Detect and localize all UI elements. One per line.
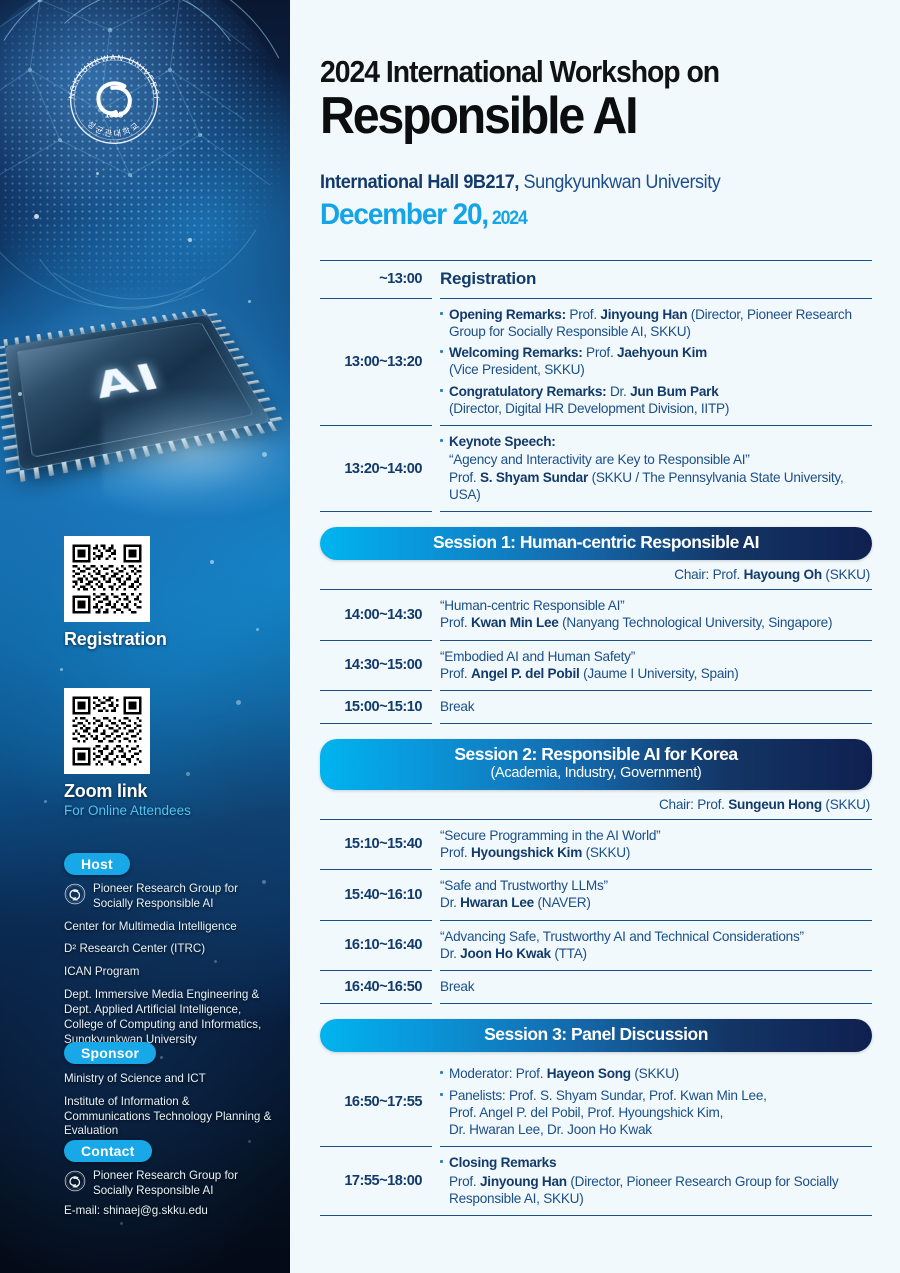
schedule-row-keynote: 13:20~14:00 Keynote Speech: “Agency and …	[320, 426, 872, 511]
item-name: Jun Bum Park	[630, 384, 718, 399]
skku-seal-small-icon: 1398	[64, 883, 86, 905]
svg-text:1398: 1398	[72, 899, 78, 902]
row-content: “Embodied AI and Human Safety” Prof. Ang…	[432, 641, 872, 691]
speaker-name: Hwaran Lee	[460, 895, 534, 910]
list-item: Keynote Speech:	[440, 433, 872, 450]
row-time: 15:10~15:40	[320, 820, 432, 870]
event-date-main: December 20,	[320, 198, 488, 231]
row-content: Registration	[432, 261, 872, 298]
speaker-prefix: Prof.	[440, 666, 471, 681]
poster-main: 2024 International Workshop on Responsib…	[290, 0, 900, 1273]
divider	[320, 723, 872, 724]
event-date-year: 2024	[488, 208, 527, 229]
speaker-name: Angel P. del Pobil	[471, 666, 580, 681]
row-time: 13:20~14:00	[320, 426, 432, 511]
speaker-affiliation: (TTA)	[551, 946, 587, 961]
speaker-affiliation: (Nanyang Technological University, Singa…	[559, 615, 833, 630]
row-time: 17:55~18:00	[320, 1147, 432, 1215]
speaker-prefix: Dr.	[440, 895, 460, 910]
closing-speaker-prefix: Prof.	[449, 1174, 480, 1189]
speaker-affiliation: (SKKU)	[582, 845, 630, 860]
item-name: Jaehyoun Kim	[617, 345, 707, 360]
svg-text:1398: 1398	[105, 110, 124, 119]
event-date: December 20, 2024	[320, 198, 833, 232]
contact-pill-label: Contact	[64, 1140, 152, 1162]
chair-affiliation: (SKKU)	[822, 567, 870, 582]
divider	[320, 511, 872, 512]
sponsor-section: Sponsor Ministry of Science and ICT Inst…	[46, 1042, 290, 1139]
row-time: 16:10~16:40	[320, 921, 432, 971]
talk-title: “Secure Programming in the AI World”	[440, 828, 660, 843]
closing-speaker: Jinyoung Han	[480, 1174, 567, 1189]
list-item: Welcoming Remarks: Prof. Jaehyoun Kim (V…	[440, 344, 872, 379]
moderator-affiliation: (SKKU)	[631, 1066, 679, 1081]
venue-line: International Hall 9B217, Sungkyunkwan U…	[320, 172, 844, 194]
speaker-name: Kwan Min Lee	[471, 615, 559, 630]
skku-university-seal-logo: SUNGKYUNKWAN UNIVERSITY 성균관대학교 1398	[62, 48, 166, 152]
sponsor-line-2: Institute of Information & Communication…	[64, 1095, 272, 1139]
talk-title: “Safe and Trustworthy LLMs”	[440, 878, 608, 893]
item-lead: Welcoming Remarks:	[449, 345, 583, 360]
row-time: 16:40~16:50	[320, 971, 432, 1003]
svg-text:1398: 1398	[72, 1186, 78, 1189]
list-item: Congratulatory Remarks: Dr. Jun Bum Park…	[440, 383, 872, 418]
workshop-title-line2: Responsible AI	[320, 90, 833, 143]
item-mid: Dr.	[606, 384, 630, 399]
row-time: 14:00~14:30	[320, 590, 432, 640]
keynote-speaker-prefix: Prof.	[449, 470, 480, 485]
session-3-title: Session 3: Panel Discussion	[330, 1025, 862, 1045]
chair-affiliation: (SKKU)	[822, 797, 870, 812]
venue-university: Sungkyunkwan University	[519, 172, 720, 193]
divider	[320, 1215, 872, 1216]
list-item: Moderator: Prof. Hayeon Song (SKKU)	[440, 1065, 872, 1082]
row-content: “Advancing Safe, Trustworthy AI and Tech…	[432, 921, 872, 971]
talk-title: “Embodied AI and Human Safety”	[440, 649, 635, 664]
poster-sidebar: AI	[0, 0, 290, 1273]
item-tail: (Director, Digital HR Development Divisi…	[449, 401, 729, 416]
session-2-subtitle: (Academia, Industry, Government)	[330, 765, 862, 782]
host-org-name: Pioneer Research Group for Socially Resp…	[93, 882, 238, 912]
zoom-link-qr-block[interactable]: Zoom link For Online Attendees	[64, 688, 191, 818]
registration-qr-code[interactable]	[64, 536, 150, 622]
row-time: 15:00~15:10	[320, 691, 432, 723]
row-content: Keynote Speech: “Agency and Interactivit…	[432, 426, 872, 511]
session-1-chair: Chair: Prof. Hayoung Oh (SKKU)	[320, 567, 870, 582]
contact-section: Contact 1398 Pioneer Research Group for …	[46, 1140, 290, 1218]
item-name: Jinyoung Han	[600, 307, 687, 322]
speaker-prefix: Prof.	[440, 845, 471, 860]
speaker-name: Hyoungshick Kim	[471, 845, 582, 860]
keynote-lead: Keynote Speech:	[449, 434, 556, 449]
keynote-speaker: S. Shyam Sundar	[480, 470, 588, 485]
session-1-banner: Session 1: Human-centric Responsible AI	[320, 527, 872, 560]
contact-org: 1398 Pioneer Research Group for Socially…	[64, 1169, 272, 1199]
sponsor-line-1: Ministry of Science and ICT	[64, 1072, 272, 1087]
poster-root: AI	[0, 0, 900, 1273]
row-time: 16:50~17:55	[320, 1058, 432, 1146]
registration-qr-block[interactable]: Registration	[64, 536, 167, 650]
chair-prefix: Chair: Prof.	[659, 797, 728, 812]
contact-email[interactable]: E-mail: shinaej@g.skku.edu	[64, 1204, 272, 1219]
row-content: Moderator: Prof. Hayeon Song (SKKU) Pane…	[432, 1058, 872, 1146]
registration-qr-label: Registration	[64, 629, 167, 650]
speaker-prefix: Dr.	[440, 946, 460, 961]
row-content: Opening Remarks: Prof. Jinyoung Han (Dir…	[432, 299, 872, 426]
venue-hall: International Hall 9B217,	[320, 172, 519, 193]
item-tail: (Vice President, SKKU)	[449, 362, 585, 377]
workshop-title-line1: 2024 International Workshop on	[320, 56, 833, 88]
schedule-table: ~13:00 Registration 13:00~13:20 Opening …	[320, 260, 872, 1216]
schedule-row-opening: 13:00~13:20 Opening Remarks: Prof. Jinyo…	[320, 299, 872, 426]
schedule-row-s1-talk1: 14:00~14:30 “Human-centric Responsible A…	[320, 590, 872, 640]
chair-name: Sungeun Hong	[728, 797, 822, 812]
schedule-row-s2-talk3: 16:10~16:40 “Advancing Safe, Trustworthy…	[320, 921, 872, 971]
skku-seal-small-icon-contact: 1398	[64, 1170, 86, 1192]
row-content: “Safe and Trustworthy LLMs” Dr. Hwaran L…	[432, 870, 872, 920]
row-content: Break	[432, 691, 872, 723]
speaker-prefix: Prof.	[440, 615, 471, 630]
host-primary-org: 1398 Pioneer Research Group for Socially…	[64, 882, 272, 912]
contact-org-name: Pioneer Research Group for Socially Resp…	[93, 1169, 238, 1199]
list-item: Opening Remarks: Prof. Jinyoung Han (Dir…	[440, 306, 872, 341]
closing-lead: Closing Remarks	[449, 1155, 556, 1170]
svg-text:성균관대학교: 성균관대학교	[86, 119, 143, 138]
host-line-3: ICAN Program	[64, 965, 272, 980]
speaker-affiliation: (Jaume I University, Spain)	[580, 666, 739, 681]
divider	[320, 1003, 872, 1004]
session-3-banner: Session 3: Panel Discussion	[320, 1019, 872, 1052]
session-2-banner: Session 2: Responsible AI for Korea (Aca…	[320, 739, 872, 789]
schedule-row-s2-talk2: 15:40~16:10 “Safe and Trustworthy LLMs” …	[320, 870, 872, 920]
host-section: Host 1398 Pioneer Research Group for Soc…	[46, 853, 290, 1047]
chair-name: Hayoung Oh	[744, 567, 822, 582]
item-mid: Prof.	[583, 345, 618, 360]
talk-title: “Advancing Safe, Trustworthy AI and Tech…	[440, 929, 804, 944]
host-line-1: Center for Multimedia Intelligence	[64, 920, 272, 935]
session-1-title: Session 1: Human-centric Responsible AI	[330, 533, 862, 553]
schedule-row-panel: 16:50~17:55 Moderator: Prof. Hayeon Song…	[320, 1058, 872, 1146]
row-time: 14:30~15:00	[320, 641, 432, 691]
talk-title: “Human-centric Responsible AI”	[440, 598, 624, 613]
row-content: Break	[432, 971, 872, 1003]
row-time: 15:40~16:10	[320, 870, 432, 920]
moderator-name: Hayeon Song	[547, 1066, 631, 1081]
schedule-row-s2-break: 16:40~16:50 Break	[320, 971, 872, 1003]
list-item: Panelists: Prof. S. Shyam Sundar, Prof. …	[440, 1087, 872, 1139]
chair-prefix: Chair: Prof.	[674, 567, 743, 582]
row-content: “Secure Programming in the AI World” Pro…	[432, 820, 872, 870]
sponsor-pill-label: Sponsor	[64, 1042, 156, 1064]
schedule-row-registration: ~13:00 Registration	[320, 261, 872, 298]
row-content: “Human-centric Responsible AI” Prof. Kwa…	[432, 590, 872, 640]
panelists-list: Panelists: Prof. S. Shyam Sundar, Prof. …	[449, 1088, 767, 1138]
zoom-link-qr-code[interactable]	[64, 688, 150, 774]
host-line-2: D² Research Center (ITRC)	[64, 942, 272, 957]
keynote-talk-title: “Agency and Interactivity are Key to Res…	[449, 452, 750, 467]
speaker-name: Joon Ho Kwak	[460, 946, 551, 961]
item-mid: Prof.	[566, 307, 601, 322]
zoom-link-label: Zoom link	[64, 781, 191, 802]
list-item: Closing Remarks	[440, 1154, 872, 1171]
host-pill-label: Host	[64, 853, 130, 875]
host-line-4: Dept. Immersive Media Engineering & Dept…	[64, 988, 272, 1047]
row-content: Closing Remarks Prof. Jinyoung Han (Dire…	[432, 1147, 872, 1215]
svg-text:SUNGKYUNKWAN UNIVERSITY: SUNGKYUNKWAN UNIVERSITY	[62, 48, 161, 100]
item-lead: Opening Remarks:	[449, 307, 566, 322]
item-lead: Congratulatory Remarks:	[449, 384, 606, 399]
moderator-prefix: Moderator: Prof.	[449, 1066, 547, 1081]
schedule-row-closing: 17:55~18:00 Closing Remarks Prof. Jinyou…	[320, 1147, 872, 1215]
schedule-row-s2-talk1: 15:10~15:40 “Secure Programming in the A…	[320, 820, 872, 870]
session-2-chair: Chair: Prof. Sungeun Hong (SKKU)	[320, 797, 870, 812]
zoom-link-sublabel: For Online Attendees	[64, 803, 191, 818]
row-time: ~13:00	[320, 261, 432, 298]
schedule-row-s1-break: 15:00~15:10 Break	[320, 691, 872, 723]
speaker-affiliation: (NAVER)	[534, 895, 591, 910]
row-time: 13:00~13:20	[320, 299, 432, 426]
schedule-row-s1-talk2: 14:30~15:00 “Embodied AI and Human Safet…	[320, 641, 872, 691]
session-2-title: Session 2: Responsible AI for Korea	[330, 745, 862, 765]
